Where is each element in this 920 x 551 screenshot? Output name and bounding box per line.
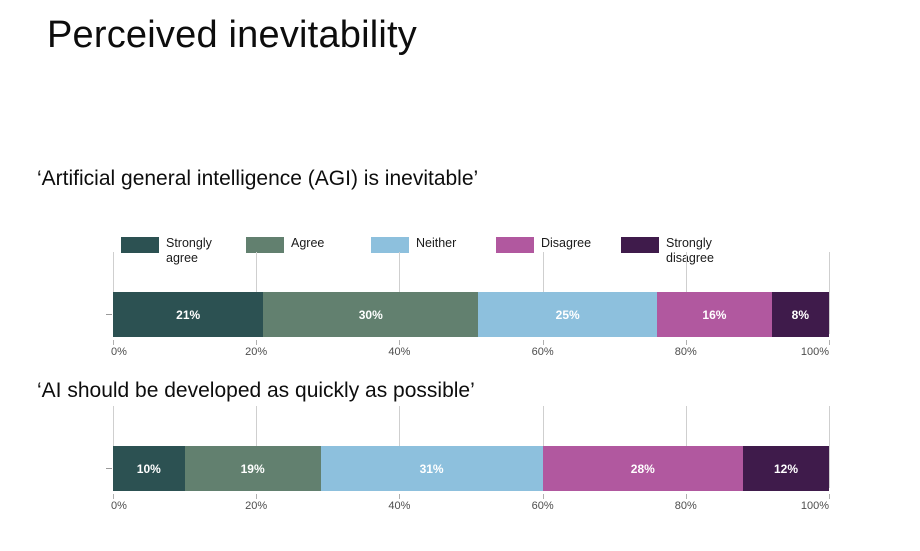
bar-segment-strongly-disagree[interactable]: 12% [743, 446, 829, 491]
bar-segment-value-label: 12% [774, 462, 798, 476]
bar-segment-strongly-agree[interactable]: 10% [113, 446, 185, 491]
gridline [829, 252, 830, 334]
stacked-bar-chart-ai-developed-quickly: 10%19%31%28%12% 0%20%40%60%80%100% [113, 428, 829, 510]
x-axis-tick [543, 340, 544, 345]
x-axis-tick [256, 494, 257, 499]
legend-label-strongly-agree: Strongly agree [166, 236, 228, 265]
x-axis-tick [829, 340, 830, 345]
x-axis-tick [113, 340, 114, 345]
legend-item-disagree[interactable]: Disagree [496, 236, 591, 253]
x-axis-tick-label: 20% [245, 500, 267, 512]
x-axis-tick-label: 80% [675, 346, 697, 358]
slide-canvas: { "slide": { "title": "Perceived inevita… [0, 0, 920, 551]
chart-2-x-axis: 0%20%40%60%80%100% [113, 494, 829, 516]
gridline [829, 406, 830, 488]
x-axis-tick [256, 340, 257, 345]
legend-swatch-disagree [496, 237, 534, 253]
legend-label-neither: Neither [416, 236, 456, 251]
x-axis-tick-label: 20% [245, 346, 267, 358]
bar-segment-neither[interactable]: 25% [478, 292, 657, 337]
legend-swatch-strongly-agree [121, 237, 159, 253]
chart-legend: Strongly agree Agree Neither Disagree St… [113, 236, 829, 274]
bar-segment-value-label: 31% [420, 462, 444, 476]
chart-1-plot-area: 21%30%25%16%8% 0%20%40%60%80%100% [113, 274, 829, 356]
bar-segment-neither[interactable]: 31% [321, 446, 543, 491]
bar-segment-agree[interactable]: 30% [263, 292, 478, 337]
x-axis-tick [399, 340, 400, 345]
bar-segment-value-label: 19% [241, 462, 265, 476]
x-axis-tick [113, 494, 114, 499]
bar-segment-disagree[interactable]: 16% [657, 292, 772, 337]
x-axis-tick [829, 494, 830, 499]
x-axis-tick-label: 40% [388, 346, 410, 358]
x-axis-tick [399, 494, 400, 499]
bar-segment-disagree[interactable]: 28% [543, 446, 743, 491]
legend-item-neither[interactable]: Neither [371, 236, 456, 253]
bar-segment-value-label: 21% [176, 308, 200, 322]
legend-item-strongly-disagree[interactable]: Strongly disagree [621, 236, 728, 265]
chart-1-category-tick [106, 314, 112, 315]
x-axis-tick-label: 0% [111, 500, 127, 512]
legend-swatch-neither [371, 237, 409, 253]
x-axis-tick-label: 40% [388, 500, 410, 512]
chart-2-category-tick [106, 468, 112, 469]
legend-label-strongly-disagree: Strongly disagree [666, 236, 728, 265]
chart-2-plot-area: 10%19%31%28%12% 0%20%40%60%80%100% [113, 428, 829, 510]
legend-swatch-agree [246, 237, 284, 253]
legend-label-disagree: Disagree [541, 236, 591, 251]
bar-segment-value-label: 16% [702, 308, 726, 322]
chart-2-stacked-bar: 10%19%31%28%12% [113, 446, 829, 491]
x-axis-tick-label: 100% [801, 500, 829, 512]
legend-item-strongly-agree[interactable]: Strongly agree [121, 236, 228, 265]
x-axis-tick-label: 60% [532, 500, 554, 512]
x-axis-tick [686, 494, 687, 499]
x-axis-tick-label: 80% [675, 500, 697, 512]
bar-segment-value-label: 10% [137, 462, 161, 476]
chart-1-x-axis: 0%20%40%60%80%100% [113, 340, 829, 362]
legend-swatch-strongly-disagree [621, 237, 659, 253]
x-axis-tick-label: 60% [532, 346, 554, 358]
x-axis-tick [543, 494, 544, 499]
bar-segment-strongly-agree[interactable]: 21% [113, 292, 263, 337]
bar-segment-strongly-disagree[interactable]: 8% [772, 292, 829, 337]
bar-segment-value-label: 30% [359, 308, 383, 322]
stacked-bar-chart-agi-inevitable: Strongly agree Agree Neither Disagree St… [113, 236, 829, 356]
chart-2-question-heading: ‘AI should be developed as quickly as po… [37, 379, 475, 403]
x-axis-tick [686, 340, 687, 345]
bar-segment-value-label: 28% [631, 462, 655, 476]
legend-label-agree: Agree [291, 236, 324, 251]
x-axis-tick-label: 0% [111, 346, 127, 358]
x-axis-tick-label: 100% [801, 346, 829, 358]
chart-1-question-heading: ‘Artificial general intelligence (AGI) i… [37, 167, 478, 191]
legend-item-agree[interactable]: Agree [246, 236, 324, 253]
bar-segment-value-label: 8% [792, 308, 809, 322]
bar-segment-value-label: 25% [556, 308, 580, 322]
bar-segment-agree[interactable]: 19% [185, 446, 321, 491]
chart-1-stacked-bar: 21%30%25%16%8% [113, 292, 829, 337]
page-title: Perceived inevitability [47, 14, 417, 57]
